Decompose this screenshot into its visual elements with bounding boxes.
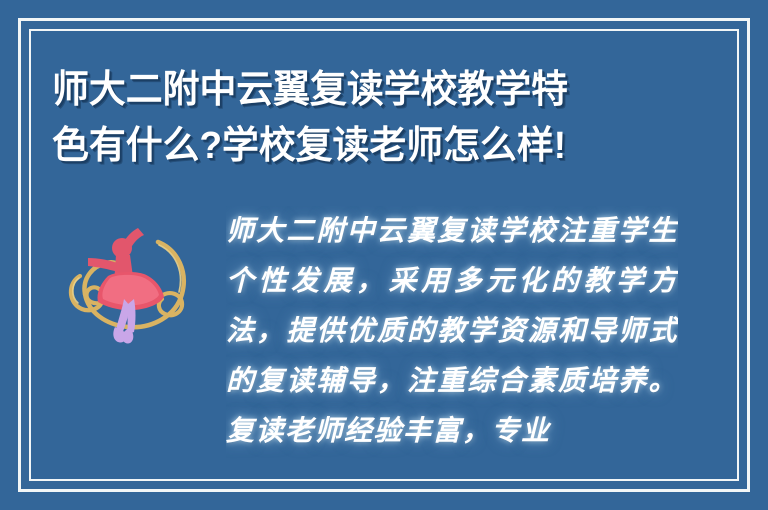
headline-line-1: 师大二附中云翼复读学校教学特 xyxy=(52,62,673,118)
poster-canvas: 师大二附中云翼复读学校教学特 色有什么?学校复读老师怎么样! xyxy=(0,0,768,510)
body-copy-block: 师大二附中云翼复读学校注重学生个性发展，采用多元化的教学方法，提供优质的教学资源… xyxy=(226,206,678,496)
ballerina-illustration xyxy=(66,214,202,346)
headline-line-2: 色有什么?学校复读老师怎么样! xyxy=(52,118,673,174)
poster-headline: 师大二附中云翼复读学校教学特 色有什么?学校复读老师怎么样! xyxy=(52,62,692,174)
body-paragraph: 师大二附中云翼复读学校注重学生个性发展，采用多元化的教学方法，提供优质的教学资源… xyxy=(226,206,678,456)
